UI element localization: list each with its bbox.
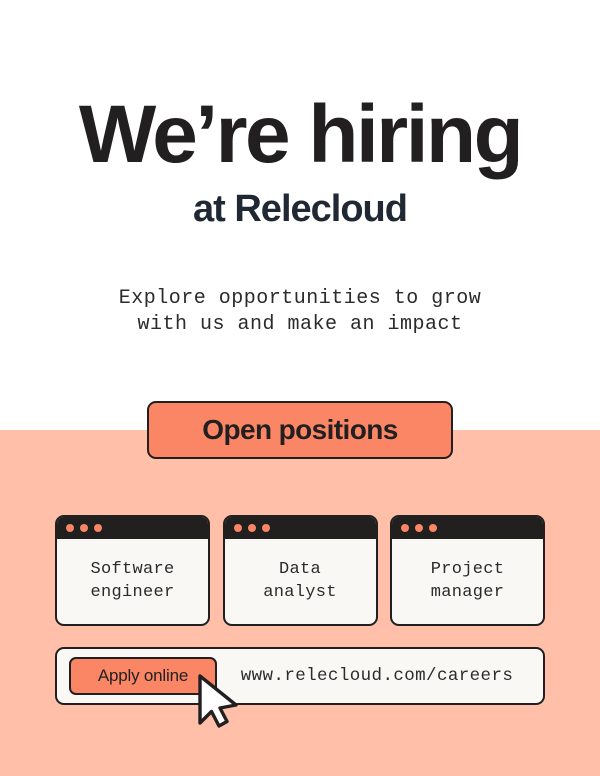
tagline-line-1: Explore opportunities to grow xyxy=(0,286,600,312)
card-label-line-1: Software xyxy=(90,559,174,582)
card-label-line-1: Project xyxy=(431,559,505,582)
card-label-line-2: manager xyxy=(431,582,505,605)
role-cards-row: Software engineer Data analyst xyxy=(55,515,545,626)
tagline: Explore opportunities to grow with us an… xyxy=(0,286,600,337)
tagline-line-2: with us and make an impact xyxy=(0,312,600,338)
card-label: Data analyst xyxy=(225,539,376,624)
window-dot-icon xyxy=(66,524,74,532)
window-dot-icon xyxy=(262,524,270,532)
open-positions-button[interactable]: Open positions xyxy=(147,401,453,459)
careers-url[interactable]: www.relecloud.com/careers xyxy=(217,666,543,686)
window-dot-icon xyxy=(234,524,242,532)
window-dot-icon xyxy=(80,524,88,532)
card-label-line-1: Data xyxy=(263,559,337,582)
window-dot-icon xyxy=(415,524,423,532)
card-titlebar xyxy=(225,517,376,539)
page-subtitle: at Relecloud xyxy=(0,190,600,230)
card-label: Software engineer xyxy=(57,539,208,624)
card-label: Project manager xyxy=(392,539,543,624)
apply-url-bar: Apply online www.relecloud.com/careers xyxy=(55,647,545,705)
card-titlebar xyxy=(392,517,543,539)
role-card-software-engineer[interactable]: Software engineer xyxy=(55,515,210,626)
card-label-line-2: analyst xyxy=(263,582,337,605)
hiring-poster: We’re hiring at Relecloud Explore opport… xyxy=(0,0,600,776)
role-card-project-manager[interactable]: Project manager xyxy=(390,515,545,626)
window-dot-icon xyxy=(401,524,409,532)
card-titlebar xyxy=(57,517,208,539)
window-dot-icon xyxy=(94,524,102,532)
window-dot-icon xyxy=(429,524,437,532)
window-dot-icon xyxy=(248,524,256,532)
headline-block: We’re hiring at Relecloud xyxy=(0,96,600,230)
role-card-data-analyst[interactable]: Data analyst xyxy=(223,515,378,626)
page-title: We’re hiring xyxy=(0,96,600,174)
card-label-line-2: engineer xyxy=(90,582,174,605)
apply-online-button[interactable]: Apply online xyxy=(69,657,217,695)
